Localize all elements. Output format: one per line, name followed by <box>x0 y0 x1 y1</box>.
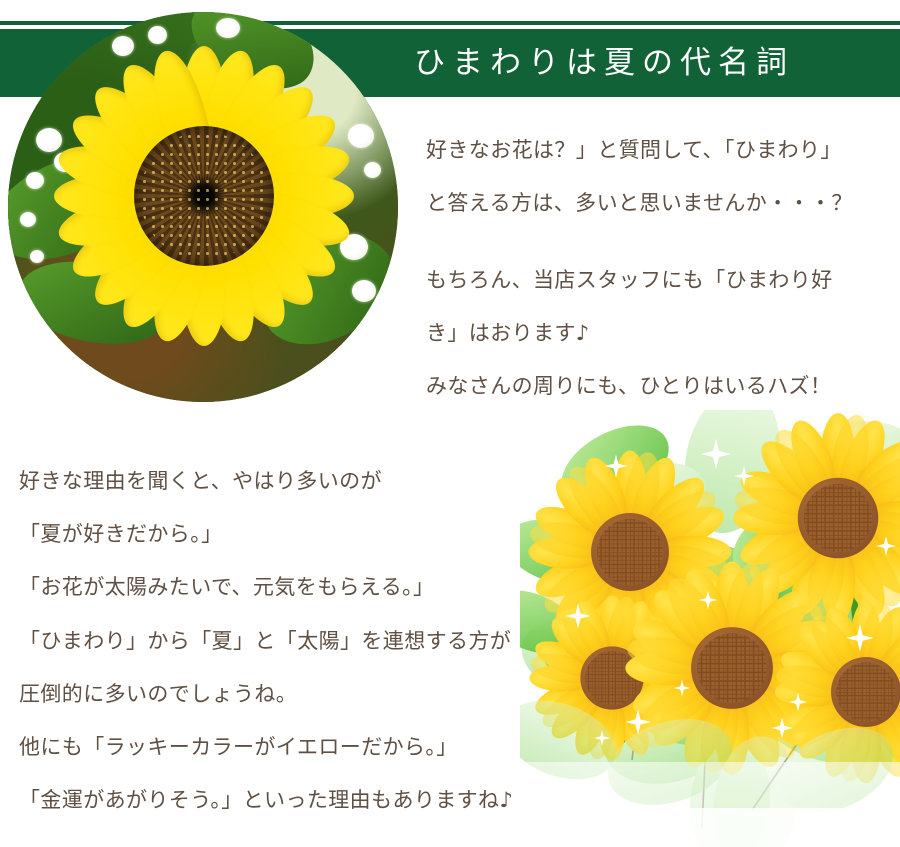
text-line: 「お花が太陽みたいで、元気をもらえる。」 <box>19 561 434 614</box>
page-title: ひまわりは夏の代名詞 <box>414 42 794 84</box>
text-line: 「夏が好きだから。」 <box>19 508 434 561</box>
photo-sunflower <box>48 40 360 352</box>
babys-breath <box>364 162 381 178</box>
text-line: 「金運があがりそう。」といった理由もありますね♪ <box>19 774 513 827</box>
babys-breath <box>20 212 36 227</box>
text-line: みなさんの周りにも、ひとりはいるハズ！ <box>426 360 853 413</box>
text-line: 「ひまわり」から「夏」と「太陽」を連想する方が <box>19 615 513 668</box>
babys-breath <box>30 250 44 263</box>
sunflower-photo <box>8 12 398 402</box>
text-line: 好きな理由を聞くと、やはり多いのが <box>19 455 434 508</box>
sunflower-photo-inner <box>8 12 398 402</box>
text-line: 他にも「ラッキーカラーがイエローだから。」 <box>19 721 513 774</box>
photo-sunflower-center <box>134 126 274 266</box>
paragraph-gap <box>426 230 853 254</box>
text-line: き」はおります♪ <box>426 307 853 360</box>
text-line: と答える方は、多いと思いませんか・・・？ <box>426 177 853 230</box>
text-line: 好きなお花は？」と質問して、「ひまわり」 <box>426 124 853 177</box>
reasons-text-block: 好きな理由を聞くと、やはり多いのが 「夏が好きだから。」 「お花が太陽みたいで、… <box>19 455 434 614</box>
babys-breath <box>26 172 44 189</box>
promo-page: ひまわりは夏の代名詞 <box>0 0 900 847</box>
intro-text-block: 好きなお花は？」と質問して、「ひまわり」 と答える方は、多いと思いませんか・・・… <box>426 124 853 413</box>
sunflower-illustration <box>520 410 900 847</box>
association-text-block: 「ひまわり」から「夏」と「太陽」を連想する方が 圧倒的に多いのでしょうね。 他に… <box>19 615 513 827</box>
babys-breath <box>216 18 240 38</box>
text-line: 圧倒的に多いのでしょうね。 <box>19 668 513 721</box>
text-line: もちろん、当店スタッフにも「ひまわり好 <box>426 254 853 307</box>
